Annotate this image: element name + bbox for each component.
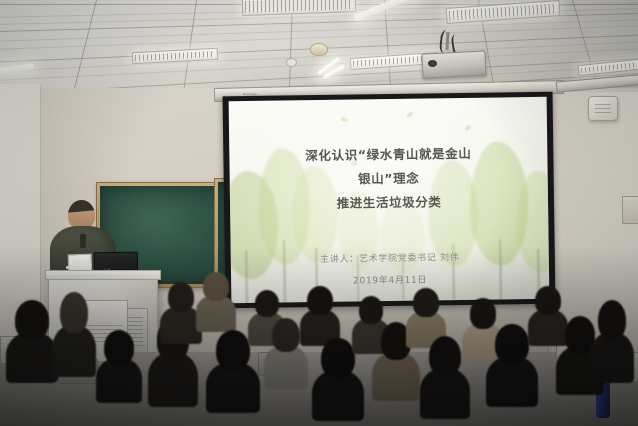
audience-member (52, 292, 96, 374)
audience-head (272, 318, 300, 352)
speaker-jacket-zip (80, 234, 86, 248)
ceiling-sensor-icon (286, 58, 297, 67)
audience-member (6, 300, 58, 380)
wall-control-plate[interactable] (622, 196, 638, 224)
audience-head (60, 292, 88, 333)
audience-member (300, 286, 340, 344)
slide-leaf-icon (406, 112, 413, 118)
projection-screen-frame: 深化认识“绿水青山就是金山 银山”理念 推进生活垃圾分类 主讲人：艺术学院党委书… (223, 92, 556, 309)
audience-head (307, 286, 333, 315)
audience-member (196, 272, 236, 330)
audience-head (535, 286, 561, 315)
projection-screen: 深化认识“绿水青山就是金山 银山”理念 推进生活垃圾分类 主讲人：艺术学院党委书… (229, 97, 550, 303)
audience-head (429, 336, 461, 376)
audience-head (598, 300, 626, 340)
smoke-detector-icon (310, 43, 328, 56)
slide-leaf-icon (340, 116, 348, 123)
audience-head (203, 272, 229, 301)
microphone-head-icon (66, 266, 69, 269)
wall-speaker (588, 96, 618, 121)
audience-head (495, 324, 528, 364)
audience-head (168, 282, 195, 312)
podium-top-surface (45, 270, 161, 280)
audience-head (104, 330, 133, 365)
audience-head (15, 300, 48, 340)
audience-member (590, 300, 634, 380)
audience-head (321, 338, 354, 378)
slide-leaf-icon (464, 125, 471, 132)
audience-head (216, 330, 251, 370)
lecture-hall-photo: NiuXuan (0, 0, 638, 426)
audience-member (96, 330, 142, 400)
projector-lens-icon (428, 60, 437, 67)
audience-head (413, 288, 439, 317)
audience-head (255, 290, 279, 317)
audience-head (359, 296, 383, 324)
